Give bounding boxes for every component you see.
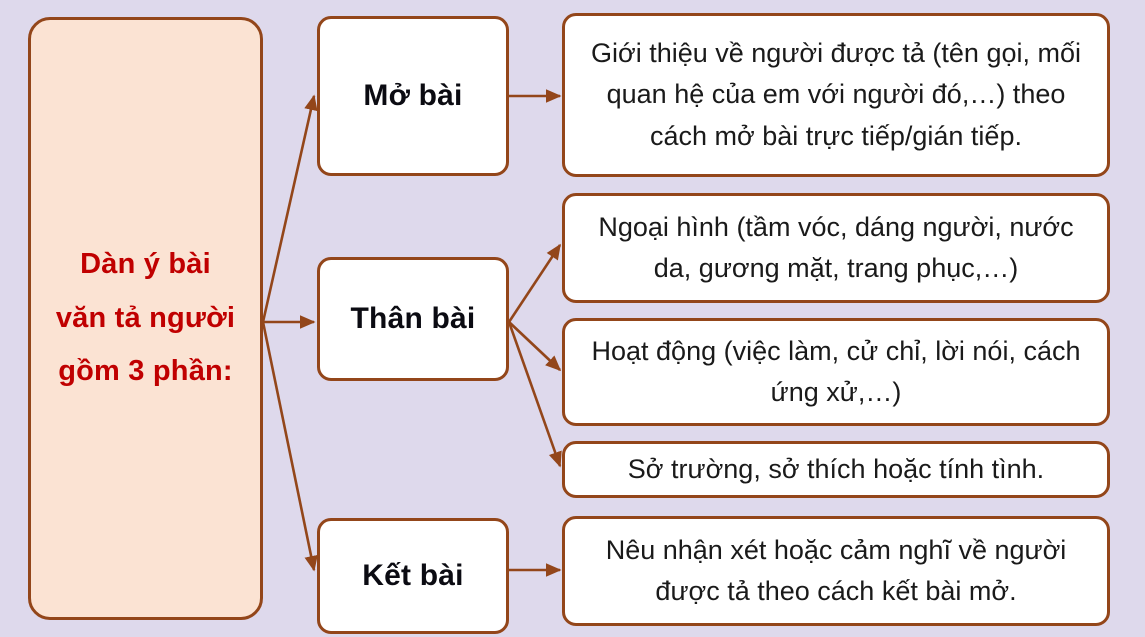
root-node-line-1: Dàn ý bài — [56, 238, 235, 292]
diagram-canvas: Dàn ý bài văn tả người gồm 3 phần: Mở bà… — [0, 0, 1145, 637]
detail-text-hoat-dong: Hoạt động (việc làm, cử chỉ, lời nói, cá… — [565, 327, 1107, 417]
detail-node-mo-bai[interactable]: Giới thiệu về người được tả (tên gọi, mố… — [562, 13, 1110, 177]
detail-node-ket-bai[interactable]: Nêu nhận xét hoặc cảm nghĩ về người được… — [562, 516, 1110, 626]
connector-than-bai-to-hoat-dong — [509, 322, 560, 370]
root-node-label: Dàn ý bài văn tả người gồm 3 phần: — [42, 238, 249, 399]
stage-label-than-bai: Thân bài — [351, 302, 476, 336]
stage-node-than-bai[interactable]: Thân bài — [317, 257, 509, 381]
connector-root-to-mo-bai — [263, 96, 314, 322]
stage-label-mo-bai: Mở bài — [363, 79, 462, 113]
detail-text-mo-bai: Giới thiệu về người được tả (tên gọi, mố… — [565, 29, 1107, 160]
stage-node-ket-bai[interactable]: Kết bài — [317, 518, 509, 634]
root-node-line-3: gồm 3 phần: — [56, 345, 235, 399]
connector-than-bai-to-ngoai-hinh — [509, 245, 560, 322]
detail-node-hoat-dong[interactable]: Hoạt động (việc làm, cử chỉ, lời nói, cá… — [562, 318, 1110, 426]
root-node[interactable]: Dàn ý bài văn tả người gồm 3 phần: — [28, 17, 263, 620]
detail-text-ngoai-hinh: Ngoại hình (tầm vóc, dáng người, nước da… — [565, 203, 1107, 293]
stage-node-mo-bai[interactable]: Mở bài — [317, 16, 509, 176]
detail-node-ngoai-hinh[interactable]: Ngoại hình (tầm vóc, dáng người, nước da… — [562, 193, 1110, 303]
detail-node-so-truong[interactable]: Sở trường, sở thích hoặc tính tình. — [562, 441, 1110, 498]
connector-than-bai-to-so-truong — [509, 322, 560, 466]
root-node-line-2: văn tả người — [56, 292, 235, 346]
detail-text-ket-bai: Nêu nhận xét hoặc cảm nghĩ về người được… — [565, 526, 1107, 616]
detail-text-so-truong: Sở trường, sở thích hoặc tính tình. — [612, 445, 1060, 494]
connector-root-to-ket-bai — [263, 322, 314, 570]
stage-label-ket-bai: Kết bài — [362, 559, 463, 593]
